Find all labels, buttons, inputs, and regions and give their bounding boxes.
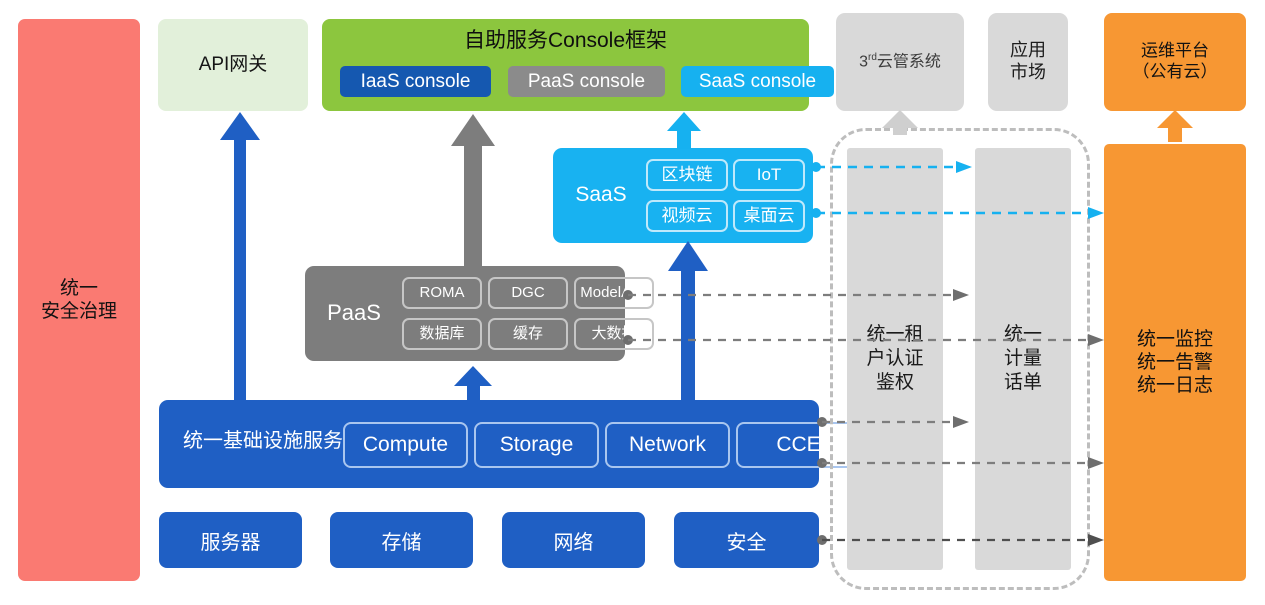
architecture-diagram: 统一 安全治理 API网关 自助服务Console框架 IaaS console… — [0, 0, 1265, 605]
paas-chip-cache[interactable]: 缓存 — [488, 318, 568, 350]
shared-tenant-auth-label: 统一租 户认证 鉴权 — [866, 323, 923, 394]
arrow-paas-to-console — [451, 114, 495, 266]
resource-box-network[interactable]: 网络 — [502, 512, 645, 568]
api-gateway-label: API网关 — [199, 53, 268, 76]
ops-monitoring-label: 统一监控 统一告警 统一日志 — [1137, 328, 1213, 398]
shared-billing-label: 统一 计量 话单 — [1004, 323, 1042, 394]
infrastructure-layer-box[interactable]: 统一基础设施服务 Compute Storage Network CCE — [159, 400, 819, 488]
infrastructure-layer-label: 统一基础设施服务 — [173, 429, 353, 453]
resource-box-security[interactable]: 安全 — [674, 512, 819, 568]
ops-platform-box[interactable]: 运维平台 （公有云） — [1104, 13, 1246, 111]
iaas-console-chip[interactable]: IaaS console — [340, 66, 491, 97]
saas-chip-video-cloud[interactable]: 视频云 — [646, 200, 728, 232]
third-party-cloud-mgmt-box[interactable]: 3rd云管系统 — [836, 13, 964, 111]
shared-billing-column[interactable]: 统一 计量 话单 — [975, 148, 1071, 570]
saas-chip-desktop-cloud[interactable]: 桌面云 — [733, 200, 805, 232]
infra-chip-compute[interactable]: Compute — [343, 422, 468, 468]
paas-layer-box[interactable]: PaaS ROMA DGC ModelArts 数据库 缓存 大数据 — [305, 266, 625, 361]
arrow-saas-to-console — [667, 112, 701, 149]
arrow-infra-to-api-gateway — [220, 112, 260, 400]
console-framework-box[interactable]: 自助服务Console框架 IaaS console PaaS console … — [322, 19, 809, 111]
shared-tenant-auth-column[interactable]: 统一租 户认证 鉴权 — [847, 148, 943, 570]
arrow-infra-to-paas — [454, 366, 492, 401]
console-framework-title: 自助服务Console框架 — [322, 28, 809, 54]
infra-chip-storage[interactable]: Storage — [474, 422, 599, 468]
app-market-label: 应用 市场 — [1010, 40, 1046, 84]
resource-box-server[interactable]: 服务器 — [159, 512, 302, 568]
third-party-cloud-mgmt-label: 3rd云管系统 — [859, 52, 941, 72]
ops-monitoring-panel[interactable]: 统一监控 统一告警 统一日志 — [1104, 144, 1246, 581]
paas-chip-bigdata[interactable]: 大数据 — [574, 318, 654, 350]
saas-layer-label: SaaS — [565, 182, 637, 208]
paas-chip-modelarts[interactable]: ModelArts — [574, 277, 654, 309]
security-governance-panel[interactable]: 统一 安全治理 — [18, 19, 140, 581]
arrow-infra-to-saas — [668, 241, 708, 401]
resource-box-storage[interactable]: 存储 — [330, 512, 473, 568]
paas-chip-database[interactable]: 数据库 — [402, 318, 482, 350]
saas-layer-box[interactable]: SaaS 区块链 IoT 视频云 桌面云 — [553, 148, 813, 243]
security-governance-label: 统一 安全治理 — [41, 277, 117, 323]
api-gateway-box[interactable]: API网关 — [158, 19, 308, 111]
infra-chip-network[interactable]: Network — [605, 422, 730, 468]
paas-chip-dgc[interactable]: DGC — [488, 277, 568, 309]
arrow-shared-to-ops-platform — [1157, 110, 1193, 142]
saas-chip-blockchain[interactable]: 区块链 — [646, 159, 728, 191]
saas-console-chip[interactable]: SaaS console — [681, 66, 834, 97]
paas-console-chip[interactable]: PaaS console — [508, 66, 665, 97]
saas-chip-iot[interactable]: IoT — [733, 159, 805, 191]
app-market-box[interactable]: 应用 市场 — [988, 13, 1068, 111]
paas-chip-roma[interactable]: ROMA — [402, 277, 482, 309]
ops-platform-label: 运维平台 （公有云） — [1133, 41, 1218, 82]
third-party-superscript: rd — [868, 52, 877, 63]
paas-layer-label: PaaS — [315, 300, 393, 327]
